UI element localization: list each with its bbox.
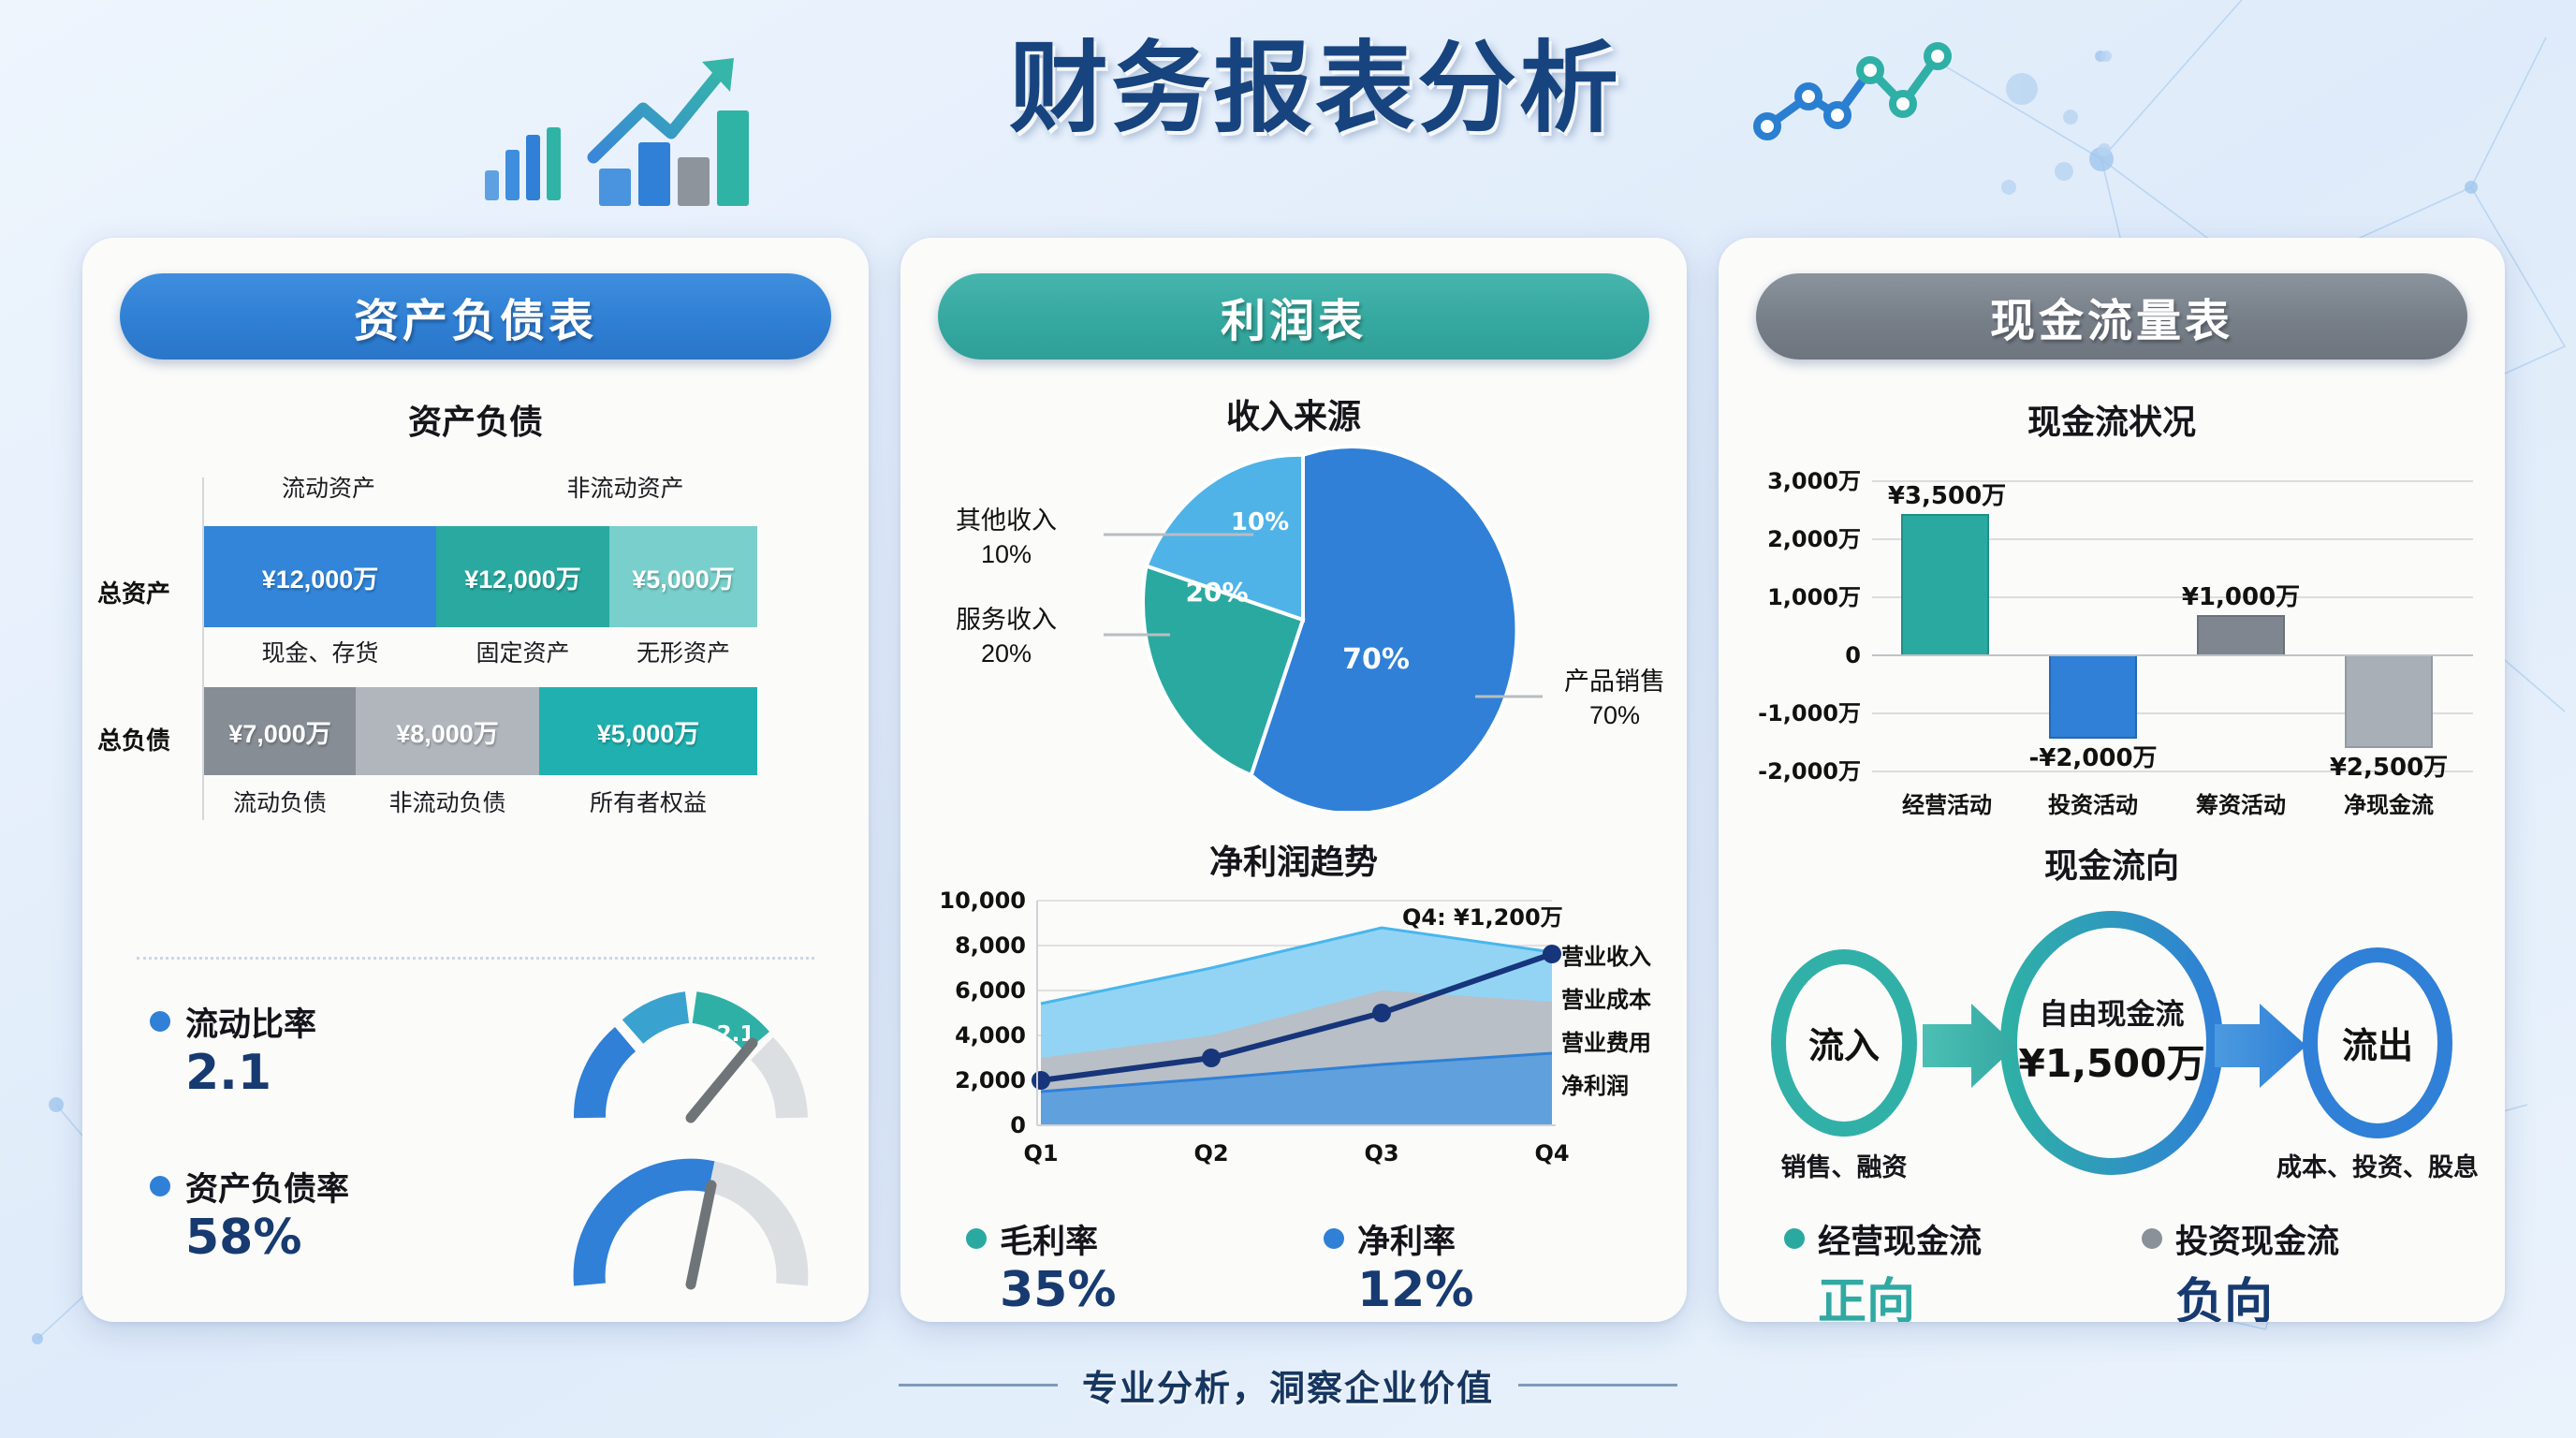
flow-label-outflow: 流出: [2342, 1025, 2413, 1066]
cell-fixed-assets[interactable]: ¥12,000万: [436, 526, 609, 627]
legend-cost: 营业成本: [1561, 987, 1651, 1013]
cash-section-title: 现金流状况: [1719, 395, 2505, 444]
kpi-label-net-margin: 净利率: [1357, 1215, 1456, 1263]
bar-value-financing: ¥1,000万: [2182, 583, 2300, 611]
bar-chart-cash-flow-status: 3,000万 2,000万 1,000万 0 -1,000万 -2,000万 ¥…: [1724, 440, 2499, 833]
gauge-icon-debt-ratio: [569, 1153, 812, 1292]
pie-label-product-pct: 70%: [1589, 701, 1640, 729]
bar-value-investing: -¥2,000万: [2028, 744, 2157, 772]
bar-value-net-cash: ¥2,500万: [2330, 754, 2448, 782]
ytick-zero: 0: [1845, 642, 1861, 668]
kpi-dot-debt-ratio: [150, 1176, 170, 1196]
cell-noncurrent-liabilities[interactable]: ¥8,000万: [356, 687, 539, 775]
trend-section-title: 净利润趋势: [900, 835, 1687, 884]
flow-label-free-cash-flow: 自由现金流: [2040, 998, 2185, 1032]
cell-intangible-assets[interactable]: ¥5,000万: [609, 526, 757, 627]
trend-annotation: Q4: ¥1,200万: [1402, 904, 1563, 931]
bar-value-operating: ¥3,500万: [1888, 482, 2006, 510]
flow-value-free-cash-flow: ¥1,500万: [2018, 1041, 2204, 1086]
pie-value-other: 10%: [1231, 508, 1289, 536]
arrow-right-inflow-icon: [1923, 1004, 2016, 1088]
pie-label-other-pct: 10%: [981, 540, 1032, 568]
kpi-dot-net-margin: [1324, 1228, 1344, 1249]
bar-chart-growth-icon: [479, 19, 872, 206]
footer-rule-right: [1518, 1384, 1677, 1387]
ytick-6000: 6,000: [955, 977, 1026, 1004]
pie-label-product-name: 产品销售: [1564, 668, 1665, 696]
kpi-label-operating-cash-flow: 经营现金流: [1818, 1215, 1982, 1263]
ytick-2000: 2,000: [955, 1067, 1026, 1093]
pie-label-other-income: 其他收入 10%: [917, 504, 1095, 571]
balance-sheet-table: 流动资产 非流动资产 总资产 ¥12,000万 ¥12,000万 ¥5,000万…: [82, 462, 869, 856]
area-chart-net-profit-trend: 10,000 8,000 6,000 4,000 2,000 0 Q1 Q2 Q…: [906, 884, 1681, 1202]
kpi-value-gross-margin: 35%: [1000, 1262, 1116, 1318]
cash-flow-direction-diagram: 流入 自由现金流 ¥1,500万 流出 销售、融资 成本、投资、股息: [1730, 893, 2494, 1202]
card-title-balance-sheet: 资产负债表: [120, 273, 831, 359]
sub-cash-inventory: 现金、存货: [204, 635, 436, 668]
xtick-q1: Q1: [1023, 1140, 1058, 1167]
ytick-1000: 1,000万: [1767, 584, 1861, 610]
ytick-neg1000: -1,000万: [1758, 700, 1861, 726]
card-income-statement[interactable]: 利润表 收入来源 70% 20% 10% 其他收入 10% 服务收入 20% 产…: [900, 238, 1687, 1322]
page-footer: 专业分析，洞察企业价值: [0, 1359, 2576, 1411]
balance-section-title: 资产负债: [82, 395, 869, 444]
sub-current-liabilities: 流动负债: [204, 785, 356, 818]
kpi-label-gross-margin: 毛利率: [1000, 1215, 1098, 1263]
card-cash-flow[interactable]: 现金流量表 现金流状况 3,000万 2,000万 1,000万 0 -1,00…: [1719, 238, 2505, 1322]
legend-profit: 净利润: [1561, 1073, 1629, 1099]
kpi-value-debt-ratio: 58%: [185, 1210, 301, 1266]
xlabel-net-cash: 净现金流: [2344, 792, 2434, 818]
income-section-title: 收入来源: [900, 389, 1687, 438]
line-chart-icon: [1750, 23, 2059, 145]
ytick-2000: 2,000万: [1767, 526, 1861, 552]
xlabel-investing: 投资活动: [2048, 792, 2138, 818]
cell-current-liabilities[interactable]: ¥7,000万: [204, 687, 356, 775]
kpi-value-current-ratio: 2.1: [185, 1045, 271, 1101]
bar-operating: [1902, 515, 1988, 655]
kpi-label-investing-cash-flow: 投资现金流: [2175, 1215, 2339, 1263]
bar-net-cash: [2346, 655, 2432, 747]
legend-revenue: 营业收入: [1561, 944, 1651, 970]
arrow-right-outflow-icon: [2215, 1004, 2306, 1088]
kpi-dot-operating-cash-flow: [1784, 1228, 1805, 1249]
row-label-total-liabilities: 总负债: [97, 722, 170, 756]
flow-label-inflow: 流入: [1808, 1025, 1880, 1066]
kpi-value-investing-cash-flow: 负向: [2175, 1262, 2273, 1322]
pie-label-product-sales: 产品销售 70%: [1544, 665, 1685, 732]
xtick-q3: Q3: [1364, 1140, 1398, 1167]
ytick-4000: 4,000: [955, 1022, 1026, 1049]
legend-expense: 营业费用: [1561, 1030, 1651, 1056]
page-header: 财务报表分析: [0, 0, 2576, 232]
bar-financing: [2198, 616, 2284, 655]
row-label-total-assets: 总资产: [97, 575, 170, 609]
xtick-q2: Q2: [1193, 1140, 1228, 1167]
footer-tagline: 专业分析，洞察企业价值: [1082, 1359, 1494, 1411]
pie-label-other-name: 其他收入: [956, 506, 1057, 535]
kpi-value-operating-cash-flow: 正向: [1818, 1262, 1915, 1322]
bar-investing: [2050, 655, 2136, 738]
card-title-cash-flow: 现金流量表: [1756, 273, 2467, 359]
card-balance-sheet[interactable]: 资产负债表 资产负债 流动资产 非流动资产 总资产 ¥12,000万 ¥12,0…: [82, 238, 869, 1322]
gauge-icon-current-ratio: 2.1: [569, 987, 812, 1125]
pie-value-product: 70%: [1342, 643, 1410, 676]
divider: [137, 957, 814, 960]
ytick-10000: 10,000: [939, 888, 1026, 914]
col-header-noncurrent-assets: 非流动资产: [504, 470, 747, 504]
card-title-income-statement: 利润表: [938, 273, 1649, 359]
flow-sub-inflow: 销售、融资: [1781, 1152, 1908, 1182]
page-title: 财务报表分析: [894, 28, 1736, 150]
cell-owners-equity[interactable]: ¥5,000万: [539, 687, 757, 775]
sub-owners-equity: 所有者权益: [539, 785, 757, 818]
sub-intangible-assets: 无形资产: [609, 635, 757, 668]
xlabel-financing: 筹资活动: [2196, 792, 2286, 818]
sub-noncurrent-liabilities: 非流动负债: [356, 785, 539, 818]
kpi-dot-current-ratio: [150, 1011, 170, 1032]
sub-fixed-assets: 固定资产: [436, 635, 609, 668]
col-header-current-assets: 流动资产: [212, 470, 446, 504]
flow-section-title: 现金流向: [1719, 839, 2505, 888]
kpi-dot-investing-cash-flow: [2142, 1228, 2162, 1249]
ytick-0: 0: [1010, 1112, 1026, 1138]
pie-label-service-name: 服务收入: [956, 606, 1057, 634]
ytick-3000: 3,000万: [1767, 468, 1861, 494]
kpi-label-debt-ratio: 资产负债率: [185, 1163, 349, 1211]
pie-value-service: 20%: [1185, 577, 1248, 608]
kpi-dot-gross-margin: [966, 1228, 987, 1249]
kpi-label-current-ratio: 流动比率: [185, 998, 316, 1046]
pie-label-service-pct: 20%: [981, 639, 1032, 668]
pie-label-service-income: 服务收入 20%: [917, 603, 1095, 670]
cell-cash-inventory[interactable]: ¥12,000万: [204, 526, 436, 627]
ytick-neg2000: -2,000万: [1758, 758, 1861, 785]
xlabel-operating: 经营活动: [1902, 792, 1992, 818]
footer-rule-left: [899, 1384, 1058, 1387]
xtick-q4: Q4: [1534, 1140, 1569, 1167]
ytick-8000: 8,000: [955, 932, 1026, 959]
kpi-value-net-margin: 12%: [1357, 1262, 1473, 1318]
flow-sub-outflow: 成本、投资、股息: [2276, 1152, 2479, 1182]
